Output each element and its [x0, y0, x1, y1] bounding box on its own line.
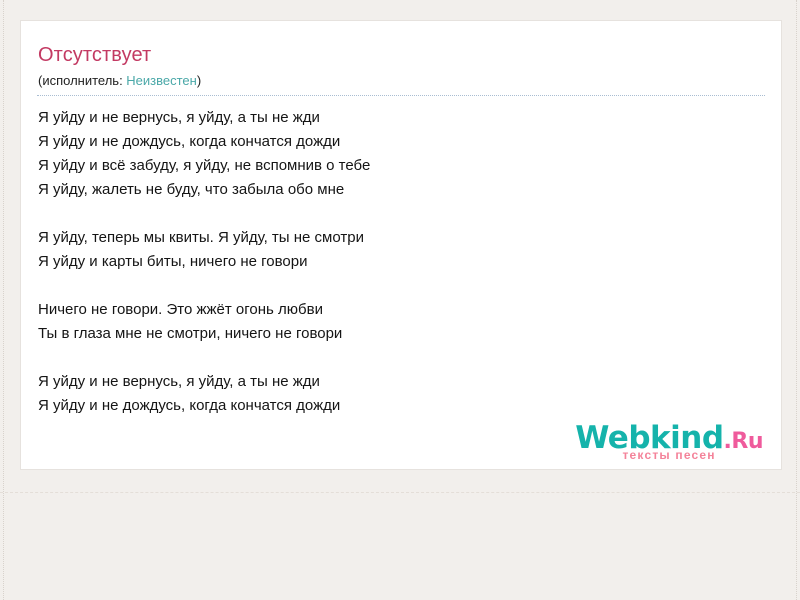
stanza-gap	[38, 346, 765, 370]
lyrics-line: Я уйду, жалеть не буду, что забыла обо м…	[38, 178, 765, 202]
title-divider	[37, 95, 765, 96]
lyrics-line: Я уйду, теперь мы квиты. Я уйду, ты не с…	[38, 226, 765, 250]
artist-label: (исполнитель:	[38, 73, 126, 88]
lyrics-line: Я уйду и всё забуду, я уйду, не вспомнив…	[38, 154, 765, 178]
logo-tld: .Ru	[724, 429, 763, 454]
page-root: Отсутствует (исполнитель: Неизвестен) Я …	[0, 0, 800, 600]
artist-line: (исполнитель: Неизвестен)	[38, 73, 765, 89]
lyrics-line: Ничего не говори. Это жжёт огонь любви	[38, 298, 765, 322]
artist-link[interactable]: Неизвестен	[126, 73, 197, 88]
lyrics-line: Я уйду и карты биты, ничего не говори	[38, 250, 765, 274]
lyrics-stanza: Ничего не говори. Это жжёт огонь любвиТы…	[38, 298, 765, 346]
page-title: Отсутствует	[37, 43, 765, 67]
page-divider	[0, 492, 800, 493]
stanza-gap	[38, 274, 765, 298]
lyrics-stanza: Я уйду и не вернусь, я уйду, а ты не жди…	[38, 106, 765, 202]
lyrics-stanza: Я уйду и не вернусь, я уйду, а ты не жди…	[38, 370, 765, 418]
lyrics-line: Я уйду и не вернусь, я уйду, а ты не жди	[38, 106, 765, 130]
lyrics-line: Я уйду и не дождусь, когда кончатся дожд…	[38, 394, 765, 418]
site-logo[interactable]: Webkind.Ru тексты песен	[575, 423, 763, 461]
lyrics-line: Ты в глаза мне не смотри, ничего не гово…	[38, 322, 765, 346]
lyrics-line: Я уйду и не вернусь, я уйду, а ты не жди	[38, 370, 765, 394]
artist-suffix: )	[197, 73, 201, 88]
song-card: Отсутствует (исполнитель: Неизвестен) Я …	[20, 20, 782, 470]
stanza-gap	[38, 202, 765, 226]
lyrics-line: Я уйду и не дождусь, когда кончатся дожд…	[38, 130, 765, 154]
lyrics-body: Я уйду и не вернусь, я уйду, а ты не жди…	[38, 106, 765, 418]
lyrics-stanza: Я уйду, теперь мы квиты. Я уйду, ты не с…	[38, 226, 765, 274]
